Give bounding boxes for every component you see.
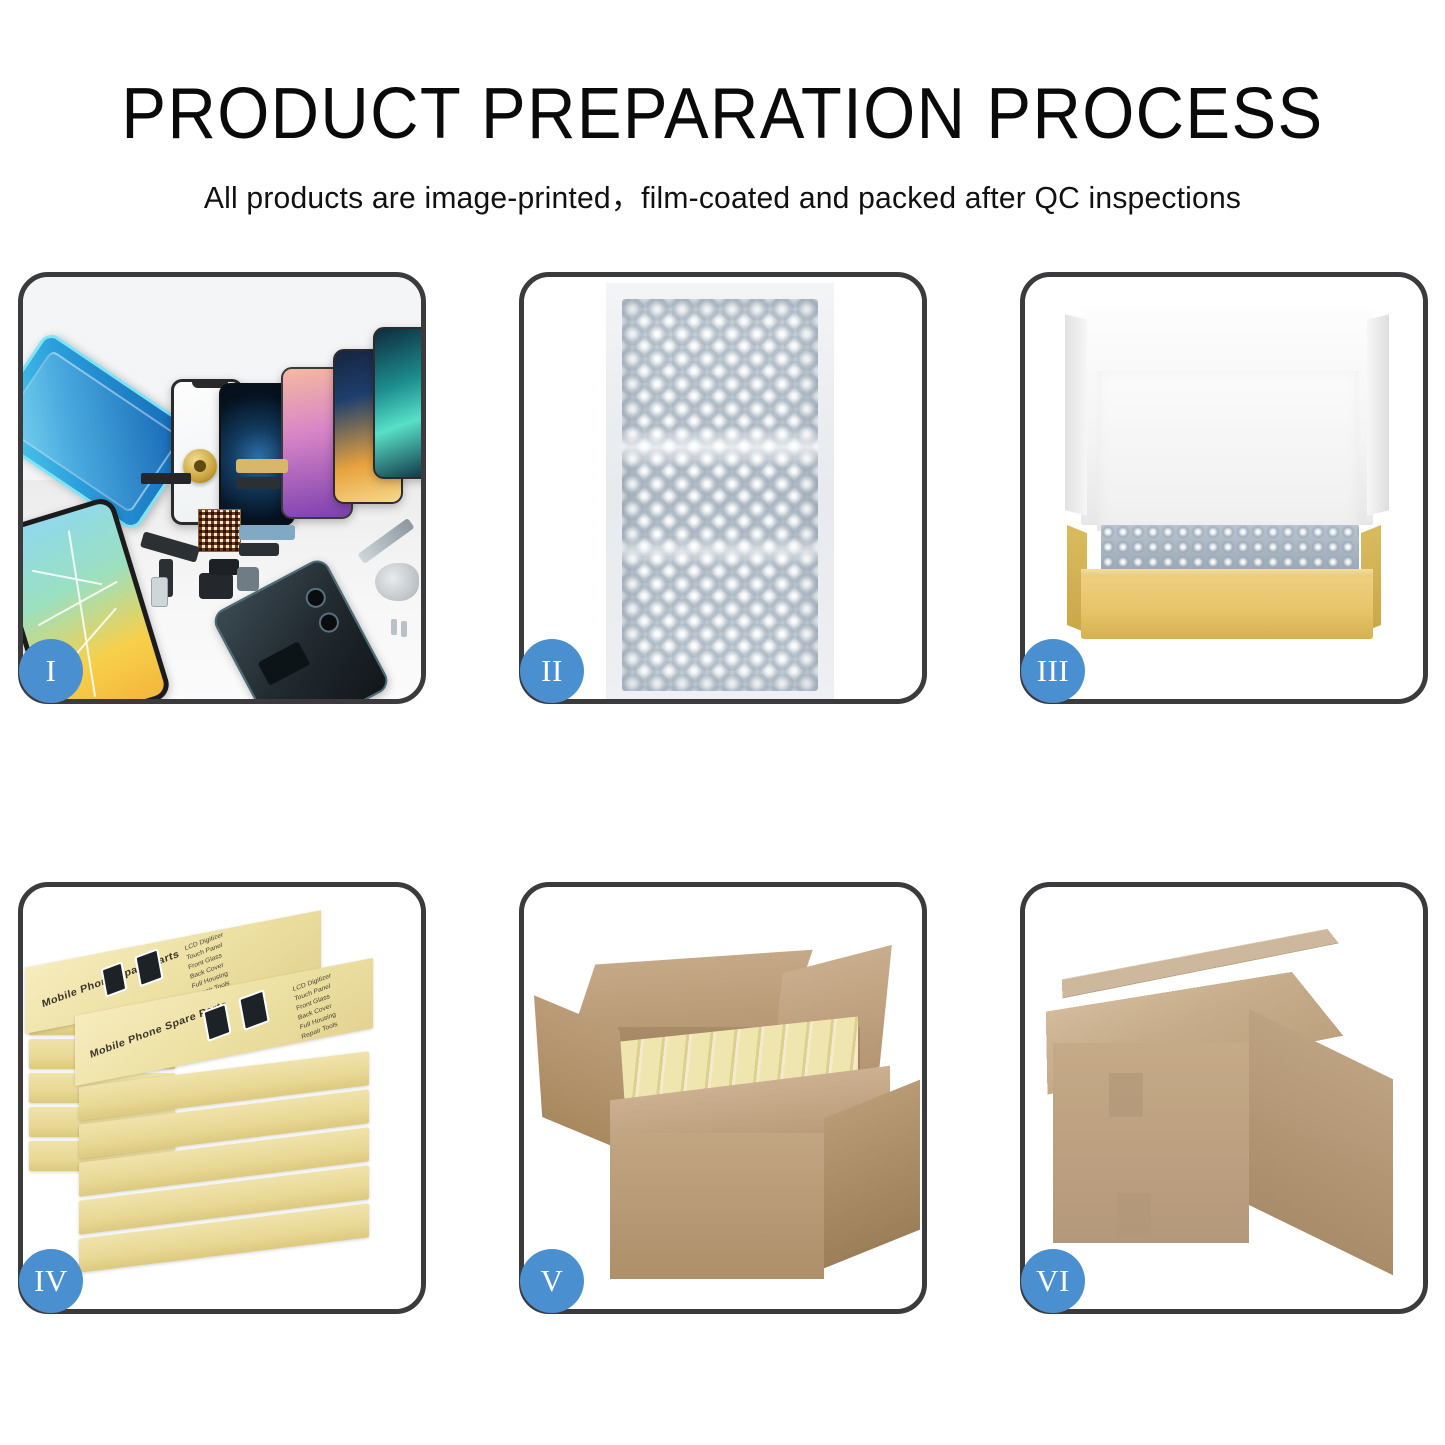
camera-module-part — [209, 559, 239, 575]
speaker-part — [199, 573, 233, 599]
process-step-panel-5: V — [519, 882, 927, 1314]
header: PRODUCT PREPARATION PROCESS All products… — [0, 0, 1445, 213]
step-badge-6: VI — [1021, 1249, 1085, 1313]
step-3-image — [1025, 277, 1423, 699]
step-badge-2: II — [520, 639, 584, 703]
taptic-engine-part — [141, 473, 191, 484]
sealed-carton — [1025, 887, 1423, 1309]
step-1-image — [23, 277, 421, 699]
sim-tray-part — [151, 577, 168, 607]
page-subtitle: All products are image-printed，film-coat… — [22, 150, 1424, 213]
flex-cable-part — [236, 459, 288, 473]
bubble-wrap-highlight — [622, 427, 818, 467]
process-step-panel-2: II — [519, 272, 927, 704]
step-6-image — [1025, 887, 1423, 1309]
step-badge-4: IV — [19, 1249, 83, 1313]
carton-front — [610, 1133, 824, 1279]
tape-tab — [1117, 1193, 1151, 1237]
process-step-panel-4: Mobile Phone Spare Parts LCD Digitizer T… — [18, 882, 426, 1314]
product-preparation-infographic: PRODUCT PREPARATION PROCESS All products… — [0, 0, 1445, 1445]
flex-cable-part — [239, 543, 279, 556]
mailer-box-liner — [1097, 371, 1359, 531]
carton-front — [1053, 1043, 1249, 1243]
process-step-panel-6: VI — [1020, 882, 1428, 1314]
step-5-image — [524, 887, 922, 1309]
step-4-image: Mobile Phone Spare Parts LCD Digitizer T… — [23, 887, 421, 1309]
bubble-wrap-highlight — [622, 537, 818, 565]
step-badge-5: V — [520, 1249, 584, 1313]
process-step-grid: I II III — [18, 272, 1428, 1312]
page-title: PRODUCT PREPARATION PROCESS — [51, 0, 1395, 150]
cleaning-brush-part — [375, 563, 419, 601]
tape-tab — [1109, 1073, 1143, 1117]
green-phone-image — [373, 327, 421, 479]
screw-part — [391, 619, 397, 635]
bubble-wrap-bubbles — [622, 299, 818, 691]
sensor-part — [237, 567, 259, 591]
step-badge-3: III — [1021, 639, 1085, 703]
ic-chip-part — [198, 509, 241, 552]
flex-cable-part — [236, 477, 280, 489]
flex-cable-part — [239, 525, 295, 540]
process-step-panel-3: III — [1020, 272, 1428, 704]
step-2-image — [524, 277, 922, 699]
process-step-panel-1: I — [18, 272, 426, 704]
carton-side — [1249, 1009, 1393, 1275]
retail-box-stack: Mobile Phone Spare Parts LCD Digitizer T… — [23, 887, 421, 1309]
screw-part — [401, 621, 407, 637]
mailer-box-front — [1081, 577, 1373, 639]
step-badge-1: I — [19, 639, 83, 703]
